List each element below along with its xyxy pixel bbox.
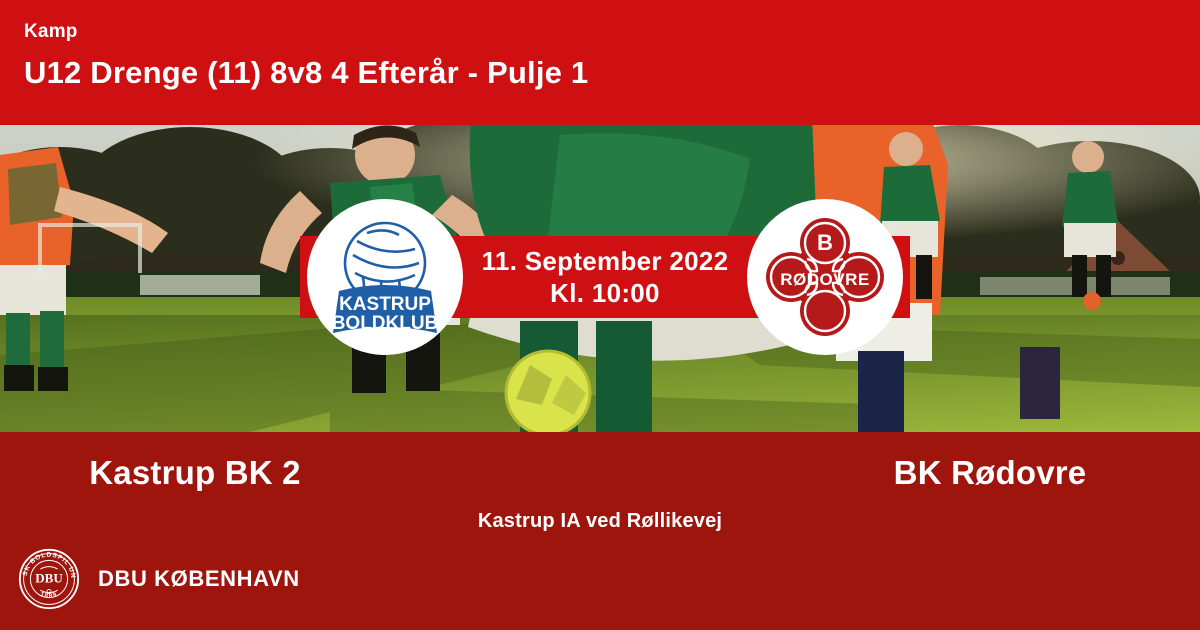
away-logo-letter: B	[817, 230, 833, 255]
match-time: Kl. 10:00	[550, 277, 660, 310]
svg-text:1889: 1889	[39, 591, 59, 600]
venue-name: Kastrup IA ved Røllikevej	[0, 510, 1200, 533]
footer-org-name: DBU KØBENHAVN	[98, 568, 300, 590]
home-logo-line2: BOLDKLUB	[332, 313, 439, 334]
page-title: U12 Drenge (11) 8v8 4 Efterår - Pulje 1	[24, 56, 1200, 90]
footer: DANSK BOLDSPIL UNION 1889 DBU DBU KØBENH…	[18, 548, 300, 610]
dbu-seal-icon: DANSK BOLDSPIL UNION 1889 DBU	[18, 548, 80, 610]
home-logo-line1: KASTRUP	[339, 294, 431, 315]
poster-header: Kamp U12 Drenge (11) 8v8 4 Efterår - Pul…	[0, 0, 1200, 125]
away-team-name: BK Rødovre	[600, 454, 1200, 492]
football	[506, 351, 590, 432]
home-team-name: Kastrup BK 2	[0, 454, 600, 492]
away-logo-text: RØDOVRE	[780, 270, 869, 289]
match-date: 11. September 2022	[482, 245, 729, 278]
dbu-seal-center-text: DBU	[35, 571, 63, 586]
away-club-badge: B RØDOVRE	[747, 199, 903, 355]
header-kicker: Kamp	[24, 22, 1200, 41]
dbu-seal-year: 1889	[39, 591, 59, 600]
kastrup-boldklub-logo-icon: KASTRUP BOLDKLUB	[319, 211, 451, 343]
match-poster: Kamp U12 Drenge (11) 8v8 4 Efterår - Pul…	[0, 0, 1200, 630]
teams-row: Kastrup BK 2 BK Rødovre	[0, 454, 1200, 492]
bk-rodovre-logo-icon: B RØDOVRE	[761, 213, 889, 341]
home-club-badge: KASTRUP BOLDKLUB	[307, 199, 463, 355]
